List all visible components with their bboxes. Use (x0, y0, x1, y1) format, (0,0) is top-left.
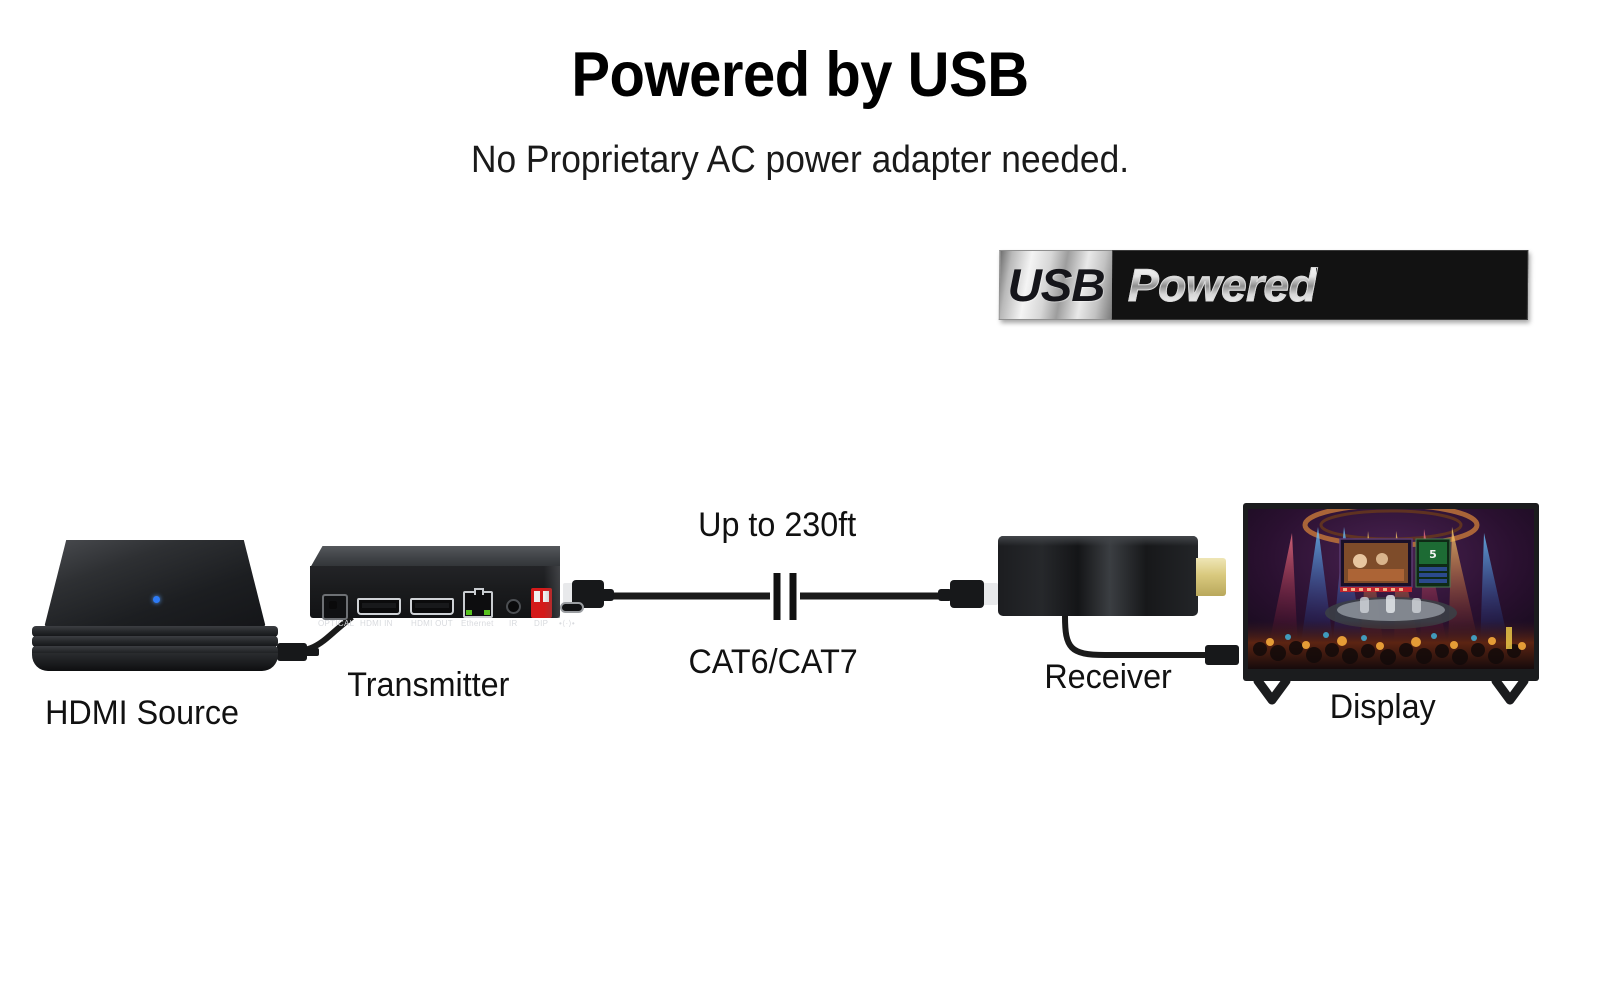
device-display: 5 (1243, 503, 1539, 681)
rj45-plug-receiver (938, 580, 998, 608)
badge-powered-text: Powered (1128, 258, 1317, 312)
svg-text:5: 5 (1429, 548, 1437, 561)
tv-foot-left (1258, 681, 1286, 700)
hdmi-connector-gold-icon (1196, 558, 1226, 596)
set-top-box-base (32, 653, 278, 671)
set-top-box-lid (44, 540, 266, 628)
label-transmitter: Transmitter (347, 666, 509, 705)
label-cable-type: CAT6/CAT7 (688, 643, 857, 682)
tv-screen: 5 (1248, 509, 1534, 669)
port-hdmi-out-icon (410, 598, 454, 615)
diagram-canvas: Powered by USB No Proprietary AC power a… (0, 0, 1600, 1000)
port-usb-icon (560, 602, 584, 613)
badge-usb-section: USB (999, 250, 1112, 320)
port-optical-icon (322, 594, 348, 620)
device-receiver (998, 536, 1198, 618)
concert-scene-image: 5 (1248, 509, 1534, 669)
label-hdmi-source: HDMI Source (45, 694, 239, 733)
power-led-icon (153, 596, 160, 603)
label-receiver: Receiver (1044, 658, 1171, 697)
hdmi-plug-source (277, 643, 307, 661)
transmitter-lid (310, 546, 560, 568)
usb-powered-badge: USB Powered (999, 250, 1528, 320)
cable-usb-power (1065, 616, 1208, 655)
badge-usb-text: USB (1007, 258, 1104, 312)
page-title: Powered by USB (64, 44, 1536, 107)
badge-powered-section: Powered (1112, 250, 1528, 320)
ethernet-led-right-icon (484, 610, 490, 615)
receiver-body (998, 536, 1198, 616)
port-label-hdmi-in: HDMI IN (360, 619, 393, 628)
device-hdmi-source (30, 540, 280, 660)
port-hdmi-in-icon (357, 598, 401, 615)
port-label-hdmi-out: HDMI OUT (411, 619, 453, 628)
device-transmitter: OPTICAL HDMI IN HDMI OUT Ethernet IR DIP… (310, 546, 560, 618)
page-subtitle: No Proprietary AC power adapter needed. (56, 141, 1544, 179)
ethernet-led-left-icon (466, 610, 472, 615)
port-label-dip: DIP (534, 619, 548, 628)
dip-switch-icon (531, 588, 552, 618)
port-label-ethernet: Ethernet (461, 619, 494, 628)
port-label-ir: IR (509, 619, 518, 628)
usb-plug-display (1205, 645, 1239, 665)
port-label-usb: •⟨·⟩• (559, 619, 575, 628)
label-display: Display (1330, 688, 1436, 727)
port-ethernet-icon (463, 591, 493, 618)
label-cable-distance: Up to 230ft (698, 506, 856, 545)
port-label-optical: OPTICAL (318, 619, 354, 628)
transmitter-front-panel: OPTICAL HDMI IN HDMI OUT Ethernet IR DIP… (310, 566, 560, 618)
port-ir-icon (506, 599, 521, 614)
tv-foot-right (1496, 681, 1524, 700)
hdmi-plug-source-neck (305, 648, 319, 656)
